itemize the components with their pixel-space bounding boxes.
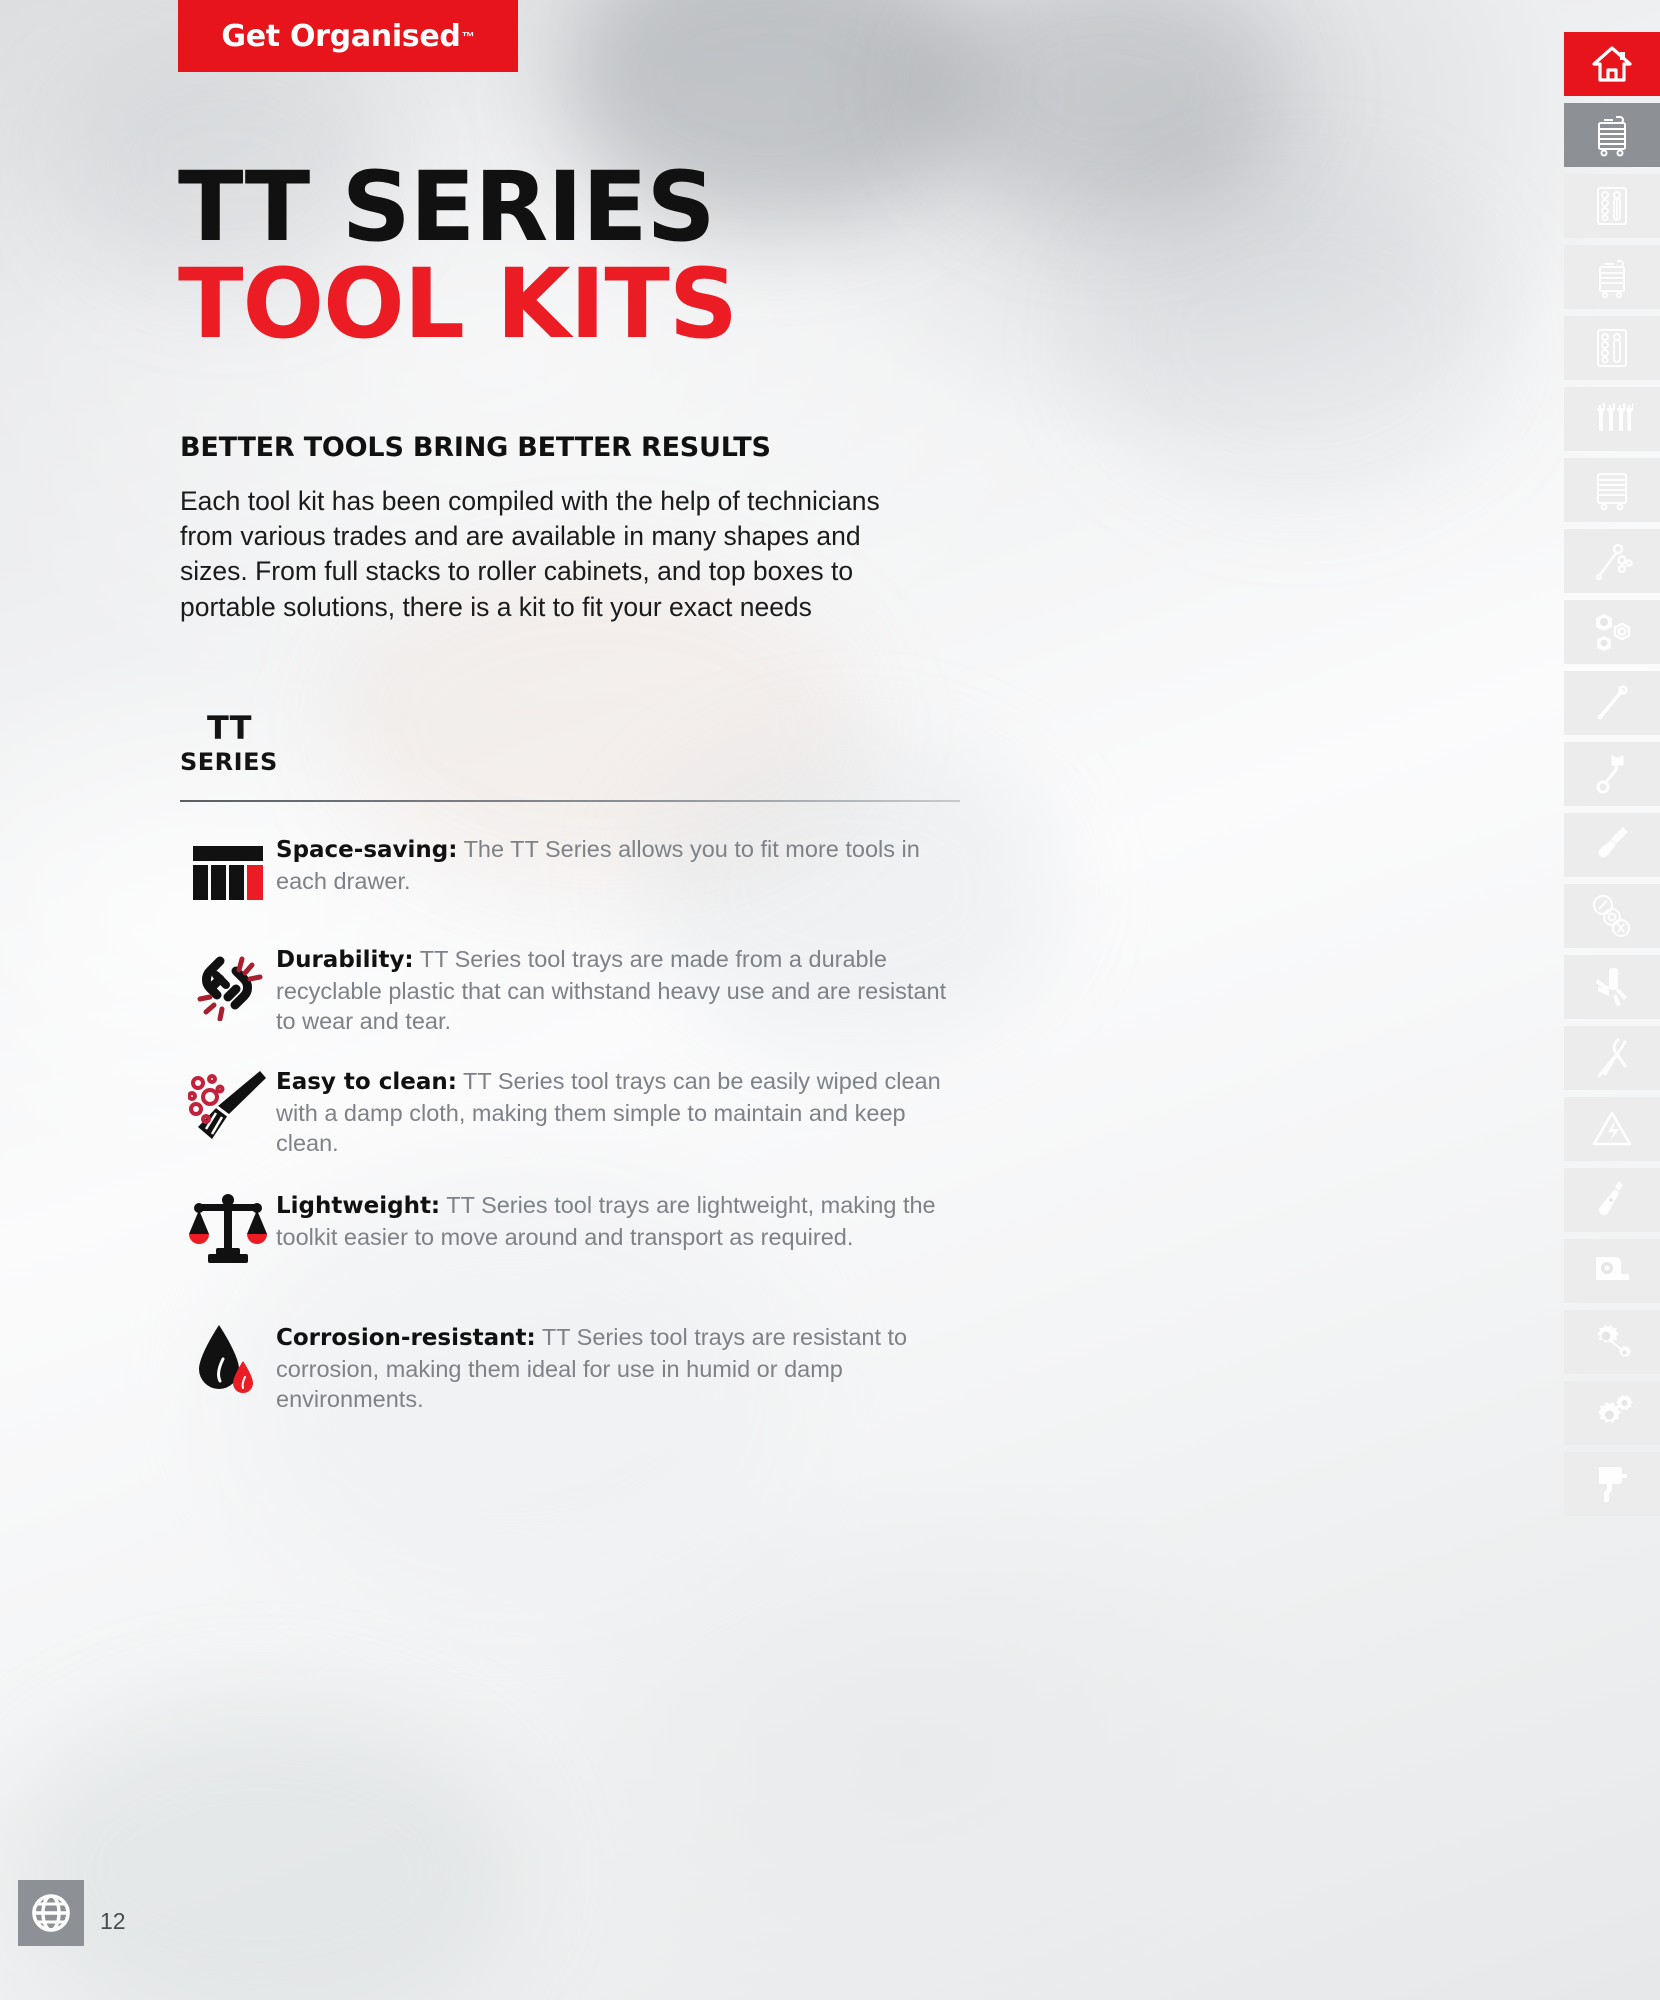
air-tool-icon bbox=[1591, 1462, 1633, 1506]
feature-title: Space-saving: bbox=[276, 837, 457, 863]
sidebar-item-screwdriver[interactable] bbox=[1564, 813, 1660, 877]
list-item: Lightweight: TT Series tool trays are li… bbox=[180, 1182, 970, 1300]
socket-tray-icon bbox=[1592, 326, 1632, 370]
broken-chain-icon bbox=[180, 940, 276, 1026]
water-droplet-icon bbox=[180, 1318, 276, 1404]
list-item-text: Corrosion-resistant: TT Series tool tray… bbox=[276, 1314, 970, 1415]
multi-tool-icon bbox=[1592, 965, 1632, 1009]
feature-title: Lightweight: bbox=[276, 1193, 440, 1219]
badge-label: Get Organised bbox=[221, 19, 460, 54]
title-line-1: TT SERIES bbox=[178, 160, 1178, 254]
gear-chain-icon bbox=[1590, 1321, 1634, 1363]
sidebar-item-wrench[interactable] bbox=[1564, 742, 1660, 806]
sidebar-item-chisel[interactable] bbox=[1564, 1168, 1660, 1232]
list-item: Easy to clean: TT Series tool trays can … bbox=[180, 1058, 970, 1168]
tape-measure-icon bbox=[1590, 1252, 1634, 1290]
feature-title: Easy to clean: bbox=[276, 1069, 457, 1095]
wrench-icon bbox=[1592, 753, 1632, 795]
spanner-set-icon bbox=[1590, 399, 1634, 439]
list-item-text: Durability: TT Series tool trays are mad… bbox=[276, 936, 970, 1037]
sidebar-item-home[interactable] bbox=[1564, 32, 1660, 96]
drawer-tray-icon bbox=[180, 830, 276, 916]
roller-cabinet-icon bbox=[1591, 469, 1633, 511]
tt-series-logo: TT SERIES bbox=[180, 712, 278, 774]
trademark-symbol: ™ bbox=[462, 29, 475, 44]
page-number: 12 bbox=[100, 1908, 126, 1935]
sidebar-item-spanner-set[interactable] bbox=[1564, 387, 1660, 451]
get-organised-badge: Get Organised™ bbox=[178, 0, 518, 72]
list-item: Durability: TT Series tool trays are mad… bbox=[180, 936, 970, 1044]
sidebar-item-pliers[interactable] bbox=[1564, 1026, 1660, 1090]
list-item-text: Lightweight: TT Series tool trays are li… bbox=[276, 1182, 970, 1252]
sidebar-item-electrical-hazard[interactable] bbox=[1564, 1097, 1660, 1161]
tool-cabinet-icon bbox=[1591, 113, 1633, 157]
sidebar-item-gears[interactable] bbox=[1564, 1381, 1660, 1445]
intro-paragraph: Each tool kit has been compiled with the… bbox=[180, 484, 910, 625]
sidebar-item-specialty-tools[interactable] bbox=[1564, 884, 1660, 948]
subheading: BETTER TOOLS BRING BETTER RESULTS bbox=[180, 432, 771, 463]
tt-series-logo-bottom: SERIES bbox=[180, 750, 278, 774]
horizontal-divider bbox=[180, 800, 960, 802]
sidebar-item-roller-cabinet[interactable] bbox=[1564, 458, 1660, 522]
pliers-icon bbox=[1591, 1036, 1633, 1080]
socket-tray-icon bbox=[1592, 184, 1632, 228]
screwdriver-icon bbox=[1592, 824, 1632, 866]
feature-list: Space-saving: The TT Series allows you t… bbox=[180, 826, 970, 1438]
category-sidebar bbox=[1564, 32, 1660, 1516]
balance-scale-icon bbox=[180, 1186, 276, 1272]
feature-title: Corrosion-resistant: bbox=[276, 1325, 536, 1351]
list-item: Space-saving: The TT Series allows you t… bbox=[180, 826, 970, 922]
sidebar-item-sockets[interactable] bbox=[1564, 600, 1660, 664]
ratchet-socket-icon bbox=[1591, 540, 1633, 582]
extension-bar-icon bbox=[1592, 683, 1632, 723]
sidebar-item-ratchet-socket[interactable] bbox=[1564, 529, 1660, 593]
sidebar-item-tape-measure[interactable] bbox=[1564, 1239, 1660, 1303]
gears-icon bbox=[1590, 1392, 1634, 1434]
sidebar-item-gear-chain[interactable] bbox=[1564, 1310, 1660, 1374]
language-globe-button[interactable] bbox=[18, 1880, 84, 1946]
sidebar-item-socket-tray-2[interactable] bbox=[1564, 316, 1660, 380]
title-line-2: TOOL KITS bbox=[178, 254, 1178, 355]
sidebar-item-socket-tray[interactable] bbox=[1564, 174, 1660, 238]
sidebar-item-extension-bar[interactable] bbox=[1564, 671, 1660, 735]
list-item-text: Easy to clean: TT Series tool trays can … bbox=[276, 1058, 970, 1159]
specialty-tools-icon bbox=[1591, 894, 1633, 938]
home-icon bbox=[1592, 46, 1632, 82]
sidebar-item-multi-tool[interactable] bbox=[1564, 955, 1660, 1019]
catalogue-page: Get Organised™ TT SERIES TOOL KITS BETTE… bbox=[0, 0, 1660, 2000]
sidebar-item-top-box[interactable] bbox=[1564, 245, 1660, 309]
sidebar-item-air-tool[interactable] bbox=[1564, 1452, 1660, 1516]
sidebar-item-tool-cabinet[interactable] bbox=[1564, 103, 1660, 167]
chisel-icon bbox=[1593, 1178, 1631, 1222]
top-box-icon bbox=[1591, 255, 1633, 299]
broom-sweep-icon bbox=[180, 1062, 276, 1148]
globe-icon bbox=[28, 1890, 74, 1936]
sockets-icon bbox=[1591, 612, 1633, 652]
feature-title: Durability: bbox=[276, 947, 414, 973]
list-item: Corrosion-resistant: TT Series tool tray… bbox=[180, 1314, 970, 1424]
list-item-text: Space-saving: The TT Series allows you t… bbox=[276, 826, 970, 896]
tt-series-logo-top: TT bbox=[207, 712, 278, 744]
electrical-hazard-icon bbox=[1591, 1109, 1633, 1149]
page-title: TT SERIES TOOL KITS bbox=[178, 160, 1178, 355]
